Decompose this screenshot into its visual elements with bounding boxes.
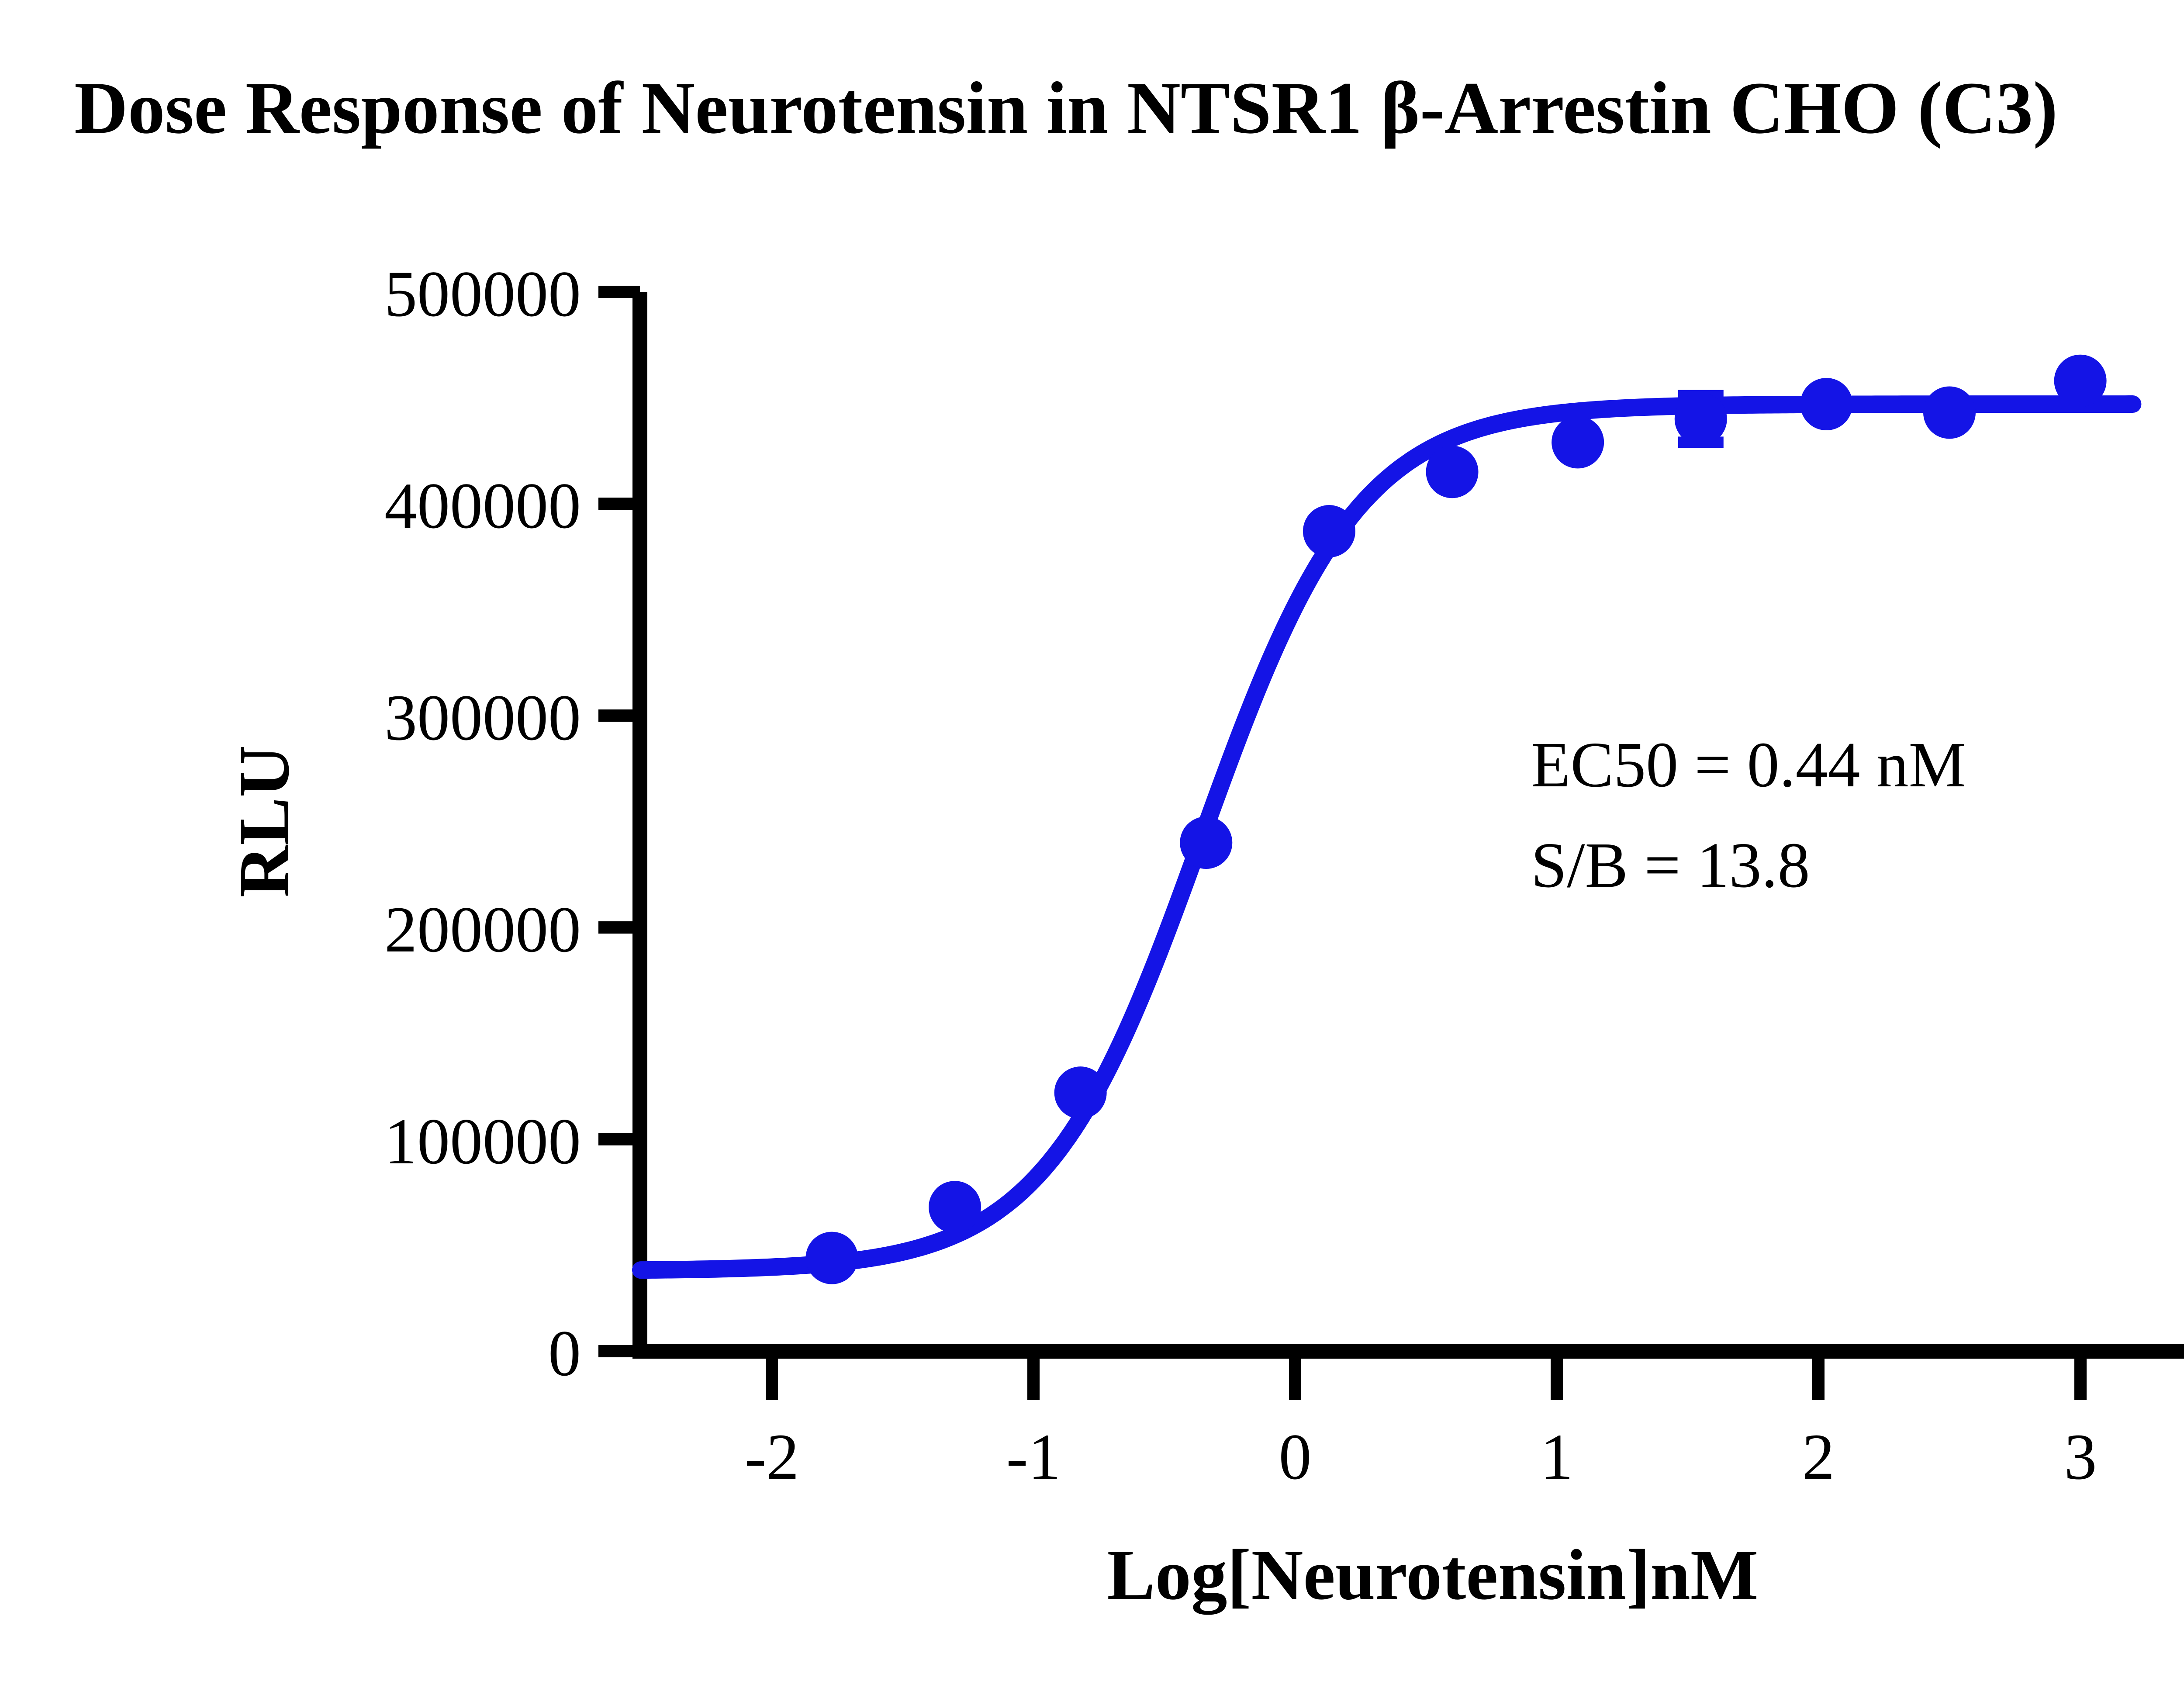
data-point-marker [1303, 505, 1355, 557]
data-point-marker [1426, 446, 1479, 498]
y-tick-label-300000: 300000 [384, 681, 581, 754]
data-point-marker [805, 1232, 858, 1284]
fit-curve [641, 404, 2132, 1270]
x-tick-label-3: 3 [2064, 1421, 2097, 1493]
data-point-marker [1054, 1066, 1107, 1119]
x-tick-label-2: 2 [1802, 1421, 1835, 1493]
x-tick-label-0: 0 [1279, 1421, 1312, 1493]
data-point-marker [1180, 816, 1232, 869]
y-tick-label-0: 0 [548, 1317, 581, 1390]
data-point-marker [2054, 355, 2107, 407]
y-axis-tick-labels: 0 100000 200000 300000 400000 500000 [384, 258, 581, 1390]
chart-page: Dose Response of Neurotensin in NTSR1 β-… [0, 0, 2184, 1702]
x-axis-title: Log[Neurotensin]nM [1107, 1535, 1758, 1615]
x-tick-label-1: 1 [1541, 1421, 1573, 1493]
x-axis-tick-labels: -2 -1 0 1 2 3 [745, 1421, 2097, 1493]
data-point-marker [1675, 393, 1727, 445]
y-tick-label-200000: 200000 [384, 893, 581, 966]
x-axis-ticks [772, 1359, 2080, 1400]
data-point-marker [1923, 386, 1976, 439]
dose-response-plot: 0 100000 200000 300000 400000 500000 -2 … [0, 0, 2184, 1702]
data-point-marker [1800, 378, 1852, 430]
y-tick-label-500000: 500000 [384, 258, 581, 330]
annotation-signal-background: S/B = 13.8 [1531, 830, 1810, 901]
axis-lines [632, 292, 2184, 1356]
data-point-series [805, 355, 2106, 1284]
y-tick-label-400000: 400000 [384, 470, 581, 542]
data-point-marker [929, 1181, 981, 1233]
data-point-marker [1552, 416, 1604, 468]
x-tick-label--1: -1 [1006, 1421, 1061, 1493]
y-axis-title: RLU [224, 745, 304, 897]
y-tick-label-100000: 100000 [384, 1105, 581, 1178]
annotation-ec50: EC50 = 0.44 nM [1531, 729, 1966, 801]
x-tick-label--2: -2 [745, 1421, 799, 1493]
